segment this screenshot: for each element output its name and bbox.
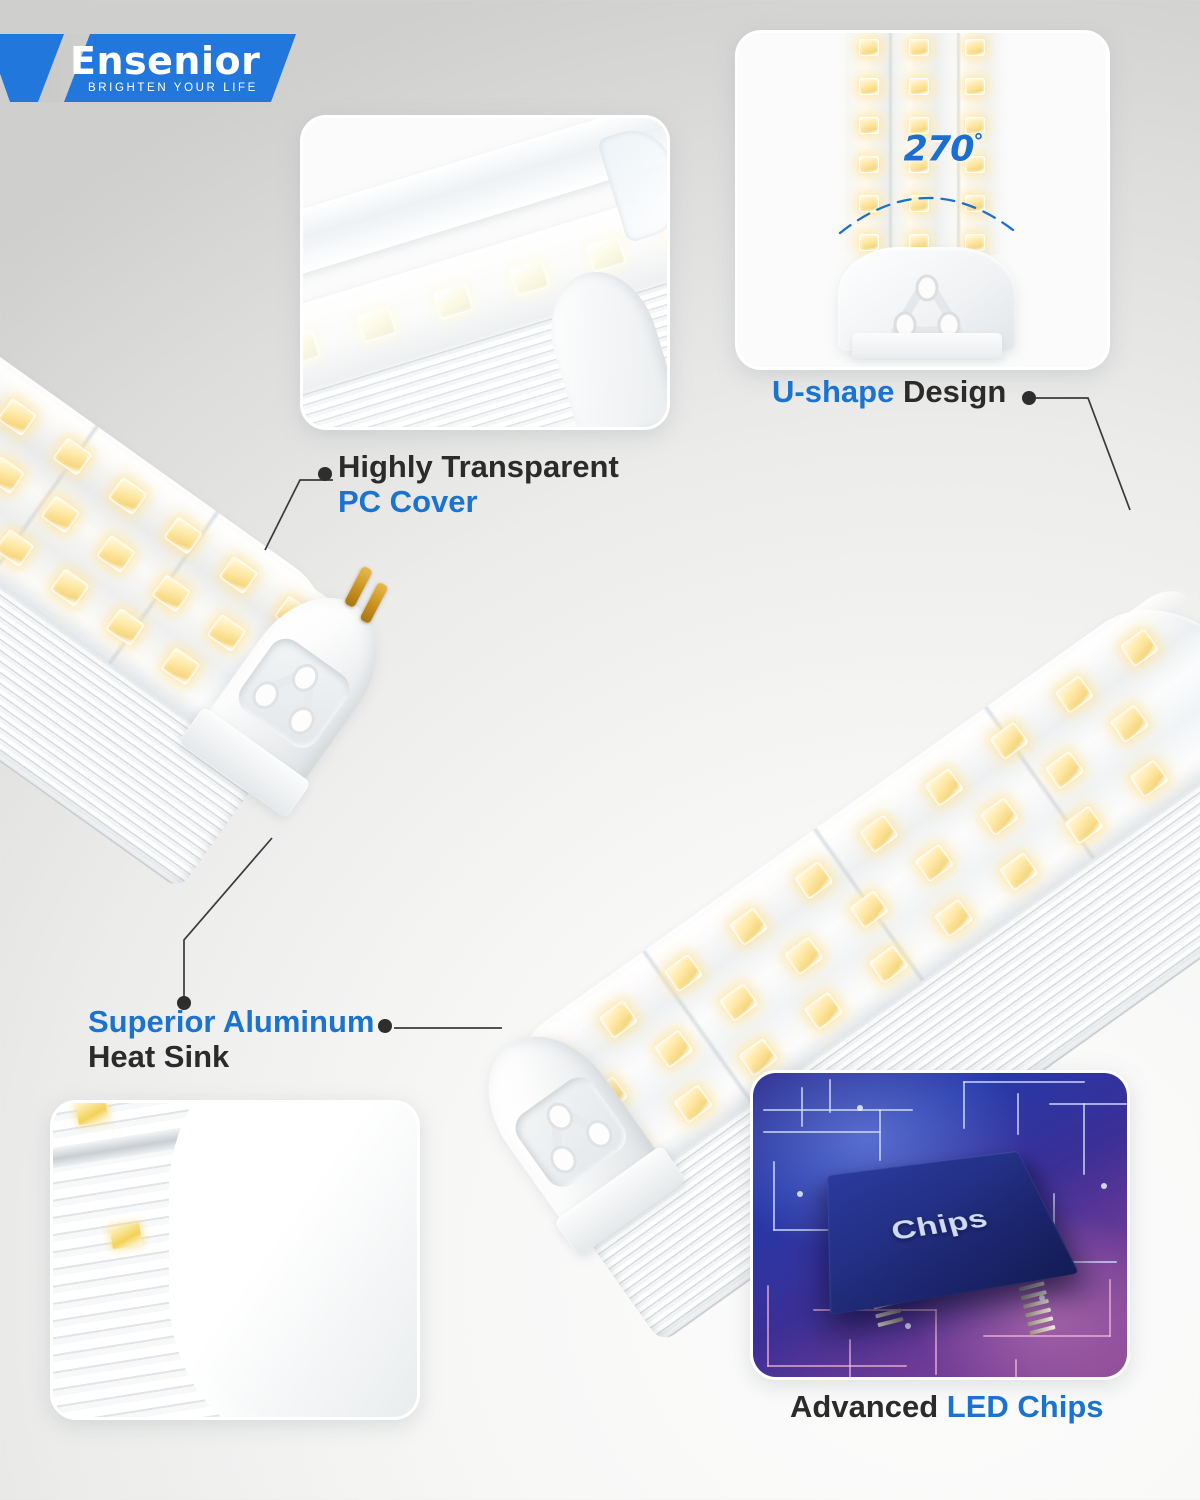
- callout-dot-icon: [378, 1019, 392, 1033]
- callout-line-2: LED Chips: [947, 1389, 1104, 1424]
- callout-line-2: Design: [903, 374, 1006, 409]
- brand-tagline: BRIGHTEN YOUR LIFE: [88, 82, 298, 94]
- led-chip: [96, 535, 136, 574]
- led-chip: [300, 330, 321, 367]
- led-chip: [909, 78, 929, 95]
- led-chip: [161, 647, 201, 686]
- led-chip: [859, 78, 879, 95]
- callout-dot-icon: [1022, 391, 1036, 405]
- inset-pc-cover-photo: [300, 115, 670, 430]
- led-chip: [219, 556, 259, 595]
- led-chip: [207, 614, 247, 653]
- led-chip: [53, 437, 93, 476]
- led-chip: [433, 283, 474, 320]
- led-chip: [909, 39, 929, 56]
- led-chip: [0, 529, 34, 568]
- infographic-canvas: Ensenior BRIGHTEN YOUR LIFE: [0, 0, 1200, 1500]
- led-chip: [163, 516, 203, 555]
- leader-line-heat-sink: [184, 838, 294, 1006]
- leader-line-u-shape: [1030, 392, 1160, 517]
- degree-symbol: °: [974, 129, 983, 153]
- callout-line-1: Superior Aluminum: [88, 1005, 374, 1040]
- end-cap-base: [852, 333, 1002, 359]
- beam-angle-arc-icon: [836, 171, 1021, 241]
- led-chip: [0, 398, 37, 437]
- callout-line-1: U-shape: [772, 374, 894, 409]
- led-chip: [109, 1223, 142, 1249]
- inset-heat-sink-photo: [50, 1100, 420, 1420]
- callout-text: Advanced LED Chips: [790, 1390, 1104, 1425]
- led-chip: [859, 39, 879, 56]
- led-chip: [509, 260, 550, 297]
- callout-line-1: Highly Transparent: [338, 450, 619, 485]
- trefoil-socket-icon: [890, 273, 964, 341]
- trefoil-socket-icon: [244, 644, 344, 742]
- led-chip: [586, 236, 627, 273]
- led-chip: [41, 495, 81, 534]
- circuit-board: Chips: [753, 1073, 1127, 1377]
- led-chip: [50, 568, 90, 607]
- callout-line-2: Heat Sink: [88, 1040, 374, 1075]
- callout-line-1: Advanced: [790, 1389, 938, 1424]
- led-chip: [356, 306, 397, 343]
- callout-u-shape: U-shape Design: [772, 375, 1006, 410]
- callout-heat-sink: Superior Aluminum Heat Sink: [88, 1005, 374, 1074]
- callout-text: U-shape Design: [772, 375, 1006, 410]
- led-chip: [965, 78, 985, 95]
- callout-dot-icon: [318, 467, 332, 481]
- trefoil-socket-icon: [521, 1083, 621, 1181]
- led-chip: [965, 39, 985, 56]
- beam-angle-number: 270: [903, 130, 973, 170]
- led-chip: [106, 608, 146, 647]
- beam-angle-value: 270°: [863, 129, 1023, 170]
- led-chip: [152, 574, 192, 613]
- callout-pc-cover: Highly Transparent PC Cover: [338, 450, 619, 519]
- brand-wordmark: Ensenior: [70, 39, 290, 83]
- inset-u-shape-photo: 270°: [735, 30, 1110, 370]
- callout-line-2: PC Cover: [338, 485, 619, 520]
- callout-led-chips: Advanced LED Chips: [790, 1390, 1104, 1425]
- leader-line-heat-sink-right: [394, 1025, 506, 1031]
- led-chip: [108, 477, 148, 516]
- inset-chips-photo: Chips: [750, 1070, 1130, 1380]
- tube-end-cap: [169, 1100, 420, 1420]
